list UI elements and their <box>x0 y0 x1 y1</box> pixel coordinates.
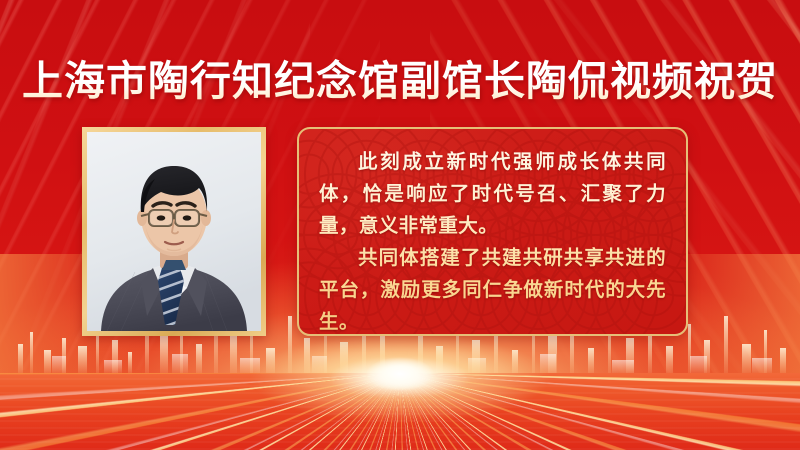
quote-paragraph-1: 此刻成立新时代强师成长体共同体，恰是响应了时代号召、汇聚了力量，意义非常重大。 <box>319 147 666 243</box>
portrait-photo <box>87 132 261 331</box>
portrait-frame <box>82 127 266 336</box>
quote-card: 此刻成立新时代强师成长体共同体，恰是响应了时代号召、汇聚了力量，意义非常重大。 … <box>297 127 688 336</box>
page-title: 上海市陶行知纪念馆副馆长陶侃视频祝贺 <box>0 57 800 105</box>
slide-stage: 上海市陶行知纪念馆副馆长陶侃视频祝贺 <box>0 0 800 450</box>
quote-text: 此刻成立新时代强师成长体共同体，恰是响应了时代号召、汇聚了力量，意义非常重大。 … <box>299 129 686 336</box>
quote-paragraph-2: 共同体搭建了共建共研共享共进的平台，激励更多同仁争做新时代的大先生。 <box>319 243 666 336</box>
